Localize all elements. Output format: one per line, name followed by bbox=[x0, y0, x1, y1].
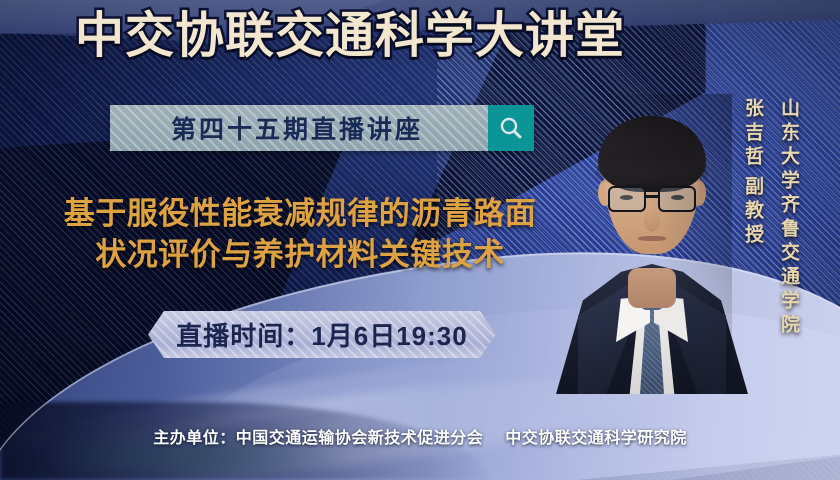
speaker-organization: 山东大学齐鲁交通学院 bbox=[775, 98, 802, 338]
lecture-title-line-2: 状况评价与养护材料关键技术 bbox=[26, 234, 574, 275]
footer-host-1: 中国交通运输协会新技术促进分会 bbox=[236, 430, 484, 447]
eyeglass-bridge bbox=[646, 195, 658, 198]
broadcast-time-badge: 直播时间：1月6日19:30 bbox=[148, 311, 496, 358]
episode-label: 第四十五期直播讲座 bbox=[110, 105, 488, 151]
eyeglass-lens-right bbox=[658, 186, 696, 212]
main-title: 中交协联交通科学大讲堂 bbox=[0, 12, 700, 61]
episode-bar: 第四十五期直播讲座 bbox=[110, 105, 534, 151]
broadcast-time-label: 直播时间：1月6日19:30 bbox=[176, 316, 467, 353]
nose-shape bbox=[644, 210, 660, 232]
mouth-shape bbox=[638, 236, 666, 241]
speaker-photo bbox=[572, 94, 732, 394]
speaker-name: 张吉哲 bbox=[739, 98, 766, 170]
main-title-container: 中交协联交通科学大讲堂 bbox=[0, 12, 700, 61]
search-icon[interactable] bbox=[488, 105, 534, 151]
live-lecture-poster: 中交协联交通科学大讲堂 第四十五期直播讲座 基于服役性能衰减规律的沥青路面 状况… bbox=[0, 0, 840, 480]
footer-hosts: 主办单位：中国交通运输协会新技术促进分会中交协联交通科学研究院 bbox=[0, 424, 840, 448]
footer-host-2: 中交协联交通科学研究院 bbox=[505, 430, 687, 447]
eyeglass-lens-left bbox=[608, 186, 646, 212]
lecture-title-line-1: 基于服役性能衰减规律的沥青路面 bbox=[26, 193, 574, 234]
neck-shape bbox=[628, 268, 676, 308]
speaker-role: 副教授 bbox=[739, 176, 766, 248]
footer-prefix: 主办单位： bbox=[153, 430, 236, 447]
lecture-title: 基于服役性能衰减规律的沥青路面 状况评价与养护材料关键技术 bbox=[26, 193, 574, 275]
